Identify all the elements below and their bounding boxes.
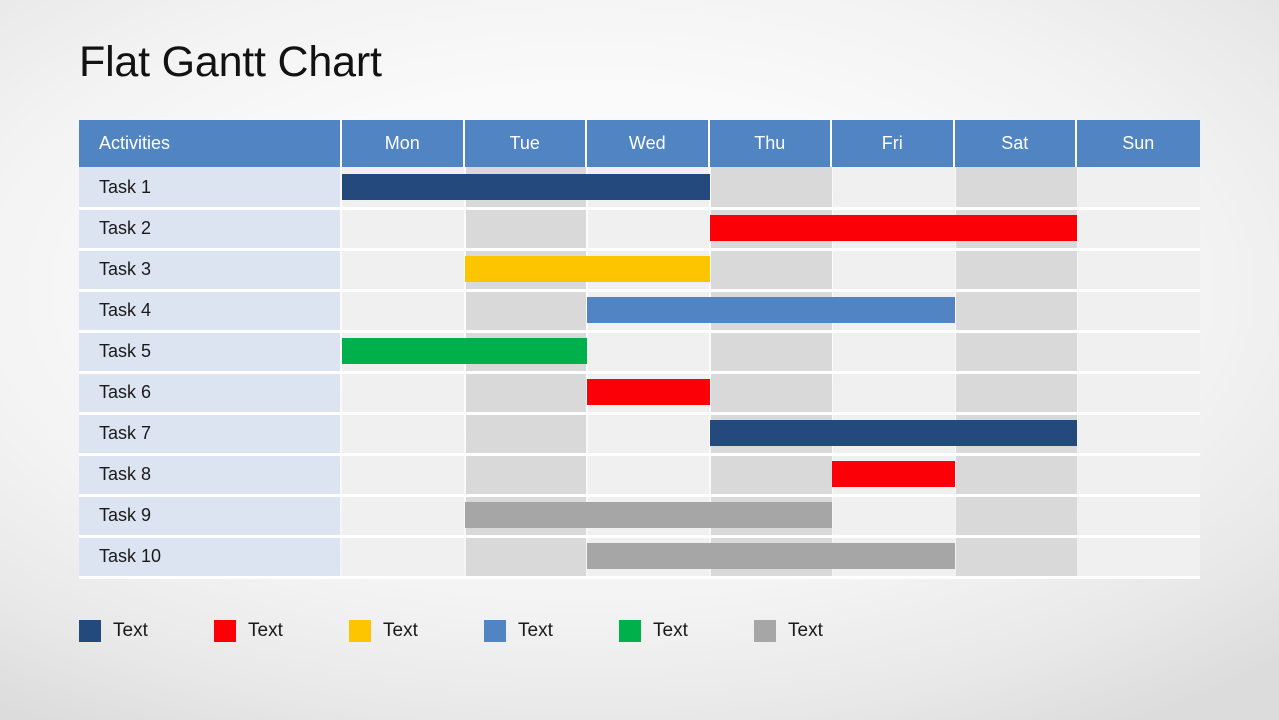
- gantt-bar[interactable]: [342, 338, 587, 364]
- task-label[interactable]: Task 9: [79, 495, 340, 536]
- legend: TextTextTextTextTextText: [79, 617, 889, 645]
- task-label[interactable]: Task 8: [79, 454, 340, 495]
- legend-swatch-green: [619, 620, 641, 642]
- column-header-mon[interactable]: Mon: [342, 120, 465, 167]
- column-header-activities[interactable]: Activities: [79, 120, 342, 167]
- legend-label: Text: [383, 620, 418, 642]
- gantt-header-row: Activities MonTueWedThuFriSatSun: [79, 120, 1200, 167]
- task-label[interactable]: Task 7: [79, 413, 340, 454]
- legend-item[interactable]: Text: [484, 620, 619, 642]
- task-label[interactable]: Task 2: [79, 208, 340, 249]
- task-label[interactable]: Task 6: [79, 372, 340, 413]
- legend-item[interactable]: Text: [214, 620, 349, 642]
- gantt-bar[interactable]: [710, 215, 1078, 241]
- column-header-tue[interactable]: Tue: [465, 120, 588, 167]
- column-header-sun[interactable]: Sun: [1077, 120, 1200, 167]
- gantt-chart: Activities MonTueWedThuFriSatSun Task 1T…: [79, 120, 1200, 577]
- gantt-bar[interactable]: [342, 174, 710, 200]
- legend-swatch-yellow: [349, 620, 371, 642]
- gantt-bar[interactable]: [832, 461, 955, 487]
- legend-item[interactable]: Text: [79, 620, 214, 642]
- gantt-bar[interactable]: [587, 297, 955, 323]
- slide-canvas: Flat Gantt Chart Activities MonTueWedThu…: [0, 0, 1279, 720]
- legend-swatch-blue: [484, 620, 506, 642]
- legend-item[interactable]: Text: [349, 620, 484, 642]
- gantt-bar[interactable]: [710, 420, 1078, 446]
- task-label[interactable]: Task 4: [79, 290, 340, 331]
- row-separator: [79, 576, 1200, 579]
- legend-swatch-gray: [754, 620, 776, 642]
- column-header-wed[interactable]: Wed: [587, 120, 710, 167]
- legend-label: Text: [248, 620, 283, 642]
- legend-swatch-red: [214, 620, 236, 642]
- task-label[interactable]: Task 5: [79, 331, 340, 372]
- legend-label: Text: [653, 620, 688, 642]
- legend-item[interactable]: Text: [619, 620, 754, 642]
- legend-label: Text: [518, 620, 553, 642]
- gantt-bar[interactable]: [587, 379, 710, 405]
- legend-label: Text: [113, 620, 148, 642]
- task-label[interactable]: Task 3: [79, 249, 340, 290]
- gantt-bar[interactable]: [465, 502, 833, 528]
- legend-label: Text: [788, 620, 823, 642]
- page-title: Flat Gantt Chart: [79, 41, 382, 84]
- column-header-sat[interactable]: Sat: [955, 120, 1078, 167]
- legend-item[interactable]: Text: [754, 620, 889, 642]
- column-header-fri[interactable]: Fri: [832, 120, 955, 167]
- gantt-bar[interactable]: [587, 543, 955, 569]
- gantt-body: Task 1Task 2Task 3Task 4Task 5Task 6Task…: [79, 167, 1200, 577]
- task-label[interactable]: Task 1: [79, 167, 340, 208]
- gantt-bar[interactable]: [465, 256, 710, 282]
- legend-swatch-navy: [79, 620, 101, 642]
- column-header-thu[interactable]: Thu: [710, 120, 833, 167]
- task-label[interactable]: Task 10: [79, 536, 340, 577]
